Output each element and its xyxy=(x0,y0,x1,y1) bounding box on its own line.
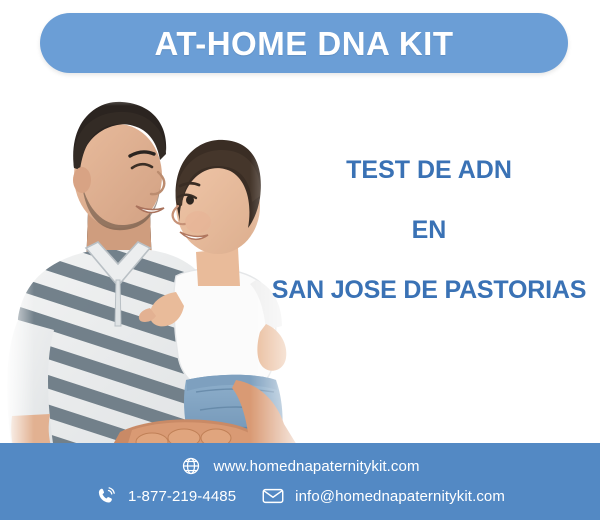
contact-phone[interactable]: 1-877-219-4485 xyxy=(95,485,236,507)
page-title: AT-HOME DNA KIT xyxy=(155,27,454,60)
poster-canvas: AT-HOME DNA KIT xyxy=(0,0,600,520)
headline-line-preposition: EN xyxy=(262,218,596,243)
photo-fade-left xyxy=(0,80,34,450)
email-label: info@homednapaternitykit.com xyxy=(295,488,505,505)
contact-website[interactable]: www.homednapaternitykit.com xyxy=(180,455,419,477)
website-label: www.homednapaternitykit.com xyxy=(213,458,419,475)
footer-contact-bar: www.homednapaternitykit.com 1-877-219-44… xyxy=(0,443,600,520)
headline-line-location: SAN JOSE DE PASTORIAS xyxy=(262,278,596,303)
header-band: AT-HOME DNA KIT xyxy=(0,0,600,86)
headline-line-service: TEST DE ADN xyxy=(262,158,596,183)
footer-row-phone-email: 1-877-219-4485 info@homednapaternitykit.… xyxy=(0,485,600,507)
headline-block: TEST DE ADN EN SAN JOSE DE PASTORIAS xyxy=(262,158,596,303)
envelope-icon xyxy=(262,485,284,507)
phone-label: 1-877-219-4485 xyxy=(128,488,236,505)
globe-icon xyxy=(180,455,202,477)
footer-row-website: www.homednapaternitykit.com xyxy=(0,455,600,477)
phone-icon xyxy=(95,485,117,507)
title-pill: AT-HOME DNA KIT xyxy=(40,13,568,73)
contact-email[interactable]: info@homednapaternitykit.com xyxy=(262,485,505,507)
